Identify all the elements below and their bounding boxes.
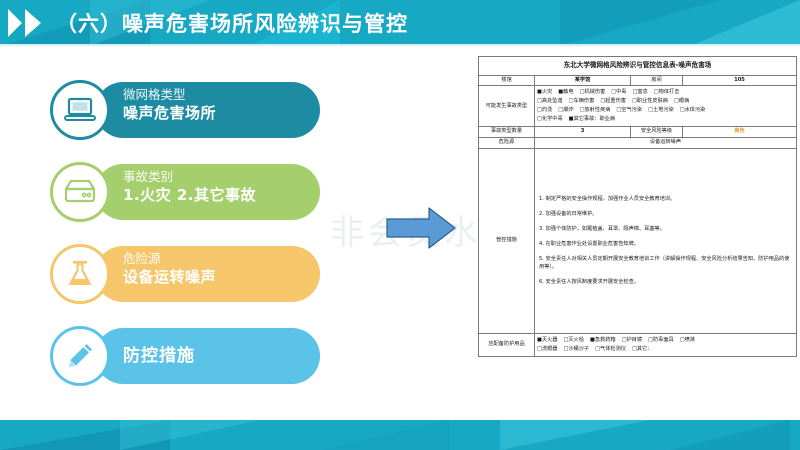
pencil-icon bbox=[65, 341, 95, 371]
card-label: 事故类别 bbox=[123, 168, 312, 185]
checkbox-item[interactable]: □物体打击 bbox=[654, 88, 680, 97]
checkbox-item[interactable]: ■急救药箱 bbox=[590, 336, 616, 345]
flow-arrow-icon bbox=[385, 205, 457, 255]
card-text: 防控措施 bbox=[123, 332, 312, 380]
info-card-micro-grid-type[interactable]: 微网格类型 噪声危害场所 bbox=[95, 82, 320, 138]
building-value: 某学馆 bbox=[535, 75, 631, 86]
checkbox-item[interactable]: □化学中毒 bbox=[537, 115, 563, 124]
checkbox-item[interactable]: □机械伤害 bbox=[580, 88, 606, 97]
hazard-source-value: 设备运转噪声 bbox=[535, 137, 797, 148]
count-label: 事故类型数量 bbox=[479, 127, 535, 138]
flask-icon bbox=[65, 259, 95, 289]
checkbox-item[interactable]: □沙桶沙子 bbox=[563, 345, 589, 354]
card-value: 1.火灾 2.其它事故 bbox=[123, 185, 312, 206]
checkbox-item[interactable]: □车辆伤害 bbox=[569, 97, 595, 106]
card-body: 危险源 设备运转噪声 bbox=[95, 246, 320, 302]
checkbox-item[interactable]: □眼病 bbox=[674, 97, 689, 106]
info-card-accident-category[interactable]: 事故类别 1.火灾 2.其它事故 bbox=[95, 164, 320, 220]
card-icon-circle bbox=[50, 162, 110, 222]
info-card-hazard-source[interactable]: 危险源 设备运转噪声 bbox=[95, 246, 320, 302]
checkbox-item[interactable]: ■灭火器 bbox=[537, 336, 557, 345]
checkbox-item[interactable]: □职业性皮肤病 bbox=[632, 97, 668, 106]
card-label: 微网格类型 bbox=[123, 86, 312, 103]
card-icon-circle bbox=[50, 244, 110, 304]
card-label: 危险源 bbox=[123, 250, 312, 267]
checkbox-item[interactable]: □气体检测仪 bbox=[595, 345, 626, 354]
checkbox-item[interactable]: □中毒 bbox=[611, 88, 626, 97]
card-body: 微网格类型 噪声危害场所 bbox=[95, 82, 320, 138]
card-value: 设备运转噪声 bbox=[123, 267, 312, 288]
table-row: 管控措施 1. 制定严格的安全操作规程，加强作业人员安全教育培训。 2. 加强设… bbox=[479, 148, 797, 333]
equipment-label: 应配备防护用品 bbox=[479, 333, 535, 356]
card-body: 防控措施 bbox=[95, 328, 320, 384]
banner-underline bbox=[0, 44, 800, 46]
checkbox-item[interactable]: □防毒面具 bbox=[648, 336, 674, 345]
card-body: 事故类别 1.火灾 2.其它事故 bbox=[95, 164, 320, 220]
hazard-source-label: 危险源 bbox=[479, 137, 535, 148]
checkbox-item[interactable]: ■火灾 bbox=[537, 88, 552, 97]
checkbox-item[interactable]: □灼烫 bbox=[537, 106, 552, 115]
card-label: 防控措施 bbox=[123, 332, 312, 380]
laptop-icon bbox=[64, 97, 96, 123]
checkbox-item[interactable]: □洗眼器 bbox=[537, 345, 557, 354]
risk-info-table: 东北大学微网格风险辨识与管控信息表-噪声危害场 楼馆 某学馆 房间 105 可能… bbox=[478, 56, 796, 414]
measure-item: 3. 加强个体防护，如戴植盖、耳罩、隔声棉、耳塞等。 bbox=[539, 225, 792, 233]
checkbox-group-1[interactable]: ■火灾■触电□机械伤害□中毒□窒息□物体打击 bbox=[537, 88, 794, 97]
footer-shape-4 bbox=[500, 420, 650, 450]
room-value: 105 bbox=[683, 75, 797, 86]
page-title: （六）噪声危害场所风险辨识与管控 bbox=[56, 6, 408, 42]
measures-label: 管控措施 bbox=[479, 148, 535, 333]
measure-item: 4. 在职业危害作业处设置职业危害告知牌。 bbox=[539, 240, 792, 248]
hazard-types-label: 可能发生事故类型 bbox=[479, 86, 535, 127]
checkbox-item[interactable]: ■触电 bbox=[558, 88, 573, 97]
checkbox-item[interactable]: □窒息 bbox=[633, 88, 648, 97]
measure-item: 2. 加强设备的日常维护。 bbox=[539, 210, 792, 218]
card-text: 危险源 设备运转噪声 bbox=[123, 250, 312, 288]
checkbox-item[interactable]: □护目镜 bbox=[622, 336, 642, 345]
checkbox-item[interactable]: □空气污染 bbox=[616, 106, 642, 115]
checkbox-item[interactable]: □起重伤害 bbox=[600, 97, 626, 106]
checkbox-item[interactable]: □水体污染 bbox=[680, 106, 706, 115]
checkbox-item[interactable]: ■其它事故：职业病 bbox=[569, 115, 615, 124]
card-text: 事故类别 1.火灾 2.其它事故 bbox=[123, 168, 312, 206]
logo-right-triangle bbox=[25, 9, 41, 37]
info-card-control-measures[interactable]: 防控措施 bbox=[95, 328, 320, 384]
footer-banner bbox=[0, 420, 800, 450]
equipment-checklist[interactable]: ■灭火器□灭火毯■急救药箱□护目镜□防毒面具□喷淋□洗眼器□沙桶沙子□气体检测仪… bbox=[535, 333, 797, 356]
checkbox-item[interactable]: □高处坠落 bbox=[537, 97, 563, 106]
checkbox-item[interactable]: □放射性疾病 bbox=[580, 106, 611, 115]
footer-shape-3 bbox=[320, 420, 450, 450]
card-icon-circle bbox=[50, 80, 110, 140]
card-value: 噪声危害场所 bbox=[123, 103, 312, 124]
table-row: 危险源 设备运转噪声 bbox=[479, 137, 797, 148]
banner-shape-5 bbox=[690, 0, 800, 46]
risk-level-label: 安全风险等级 bbox=[631, 127, 683, 138]
checkbox-group-2[interactable]: □高处坠落□车辆伤害□起重伤害□职业性皮肤病□眼病 bbox=[537, 97, 794, 106]
card-text: 微网格类型 噪声危害场所 bbox=[123, 86, 312, 124]
building-label: 楼馆 bbox=[479, 75, 535, 86]
measure-item: 5. 安全责任人对相关人员定期开展安全教育培训工作（讲解操作规程、安全风险分析结… bbox=[539, 255, 792, 271]
table-row: 事故类型数量 3 安全风险等级 黄色 bbox=[479, 127, 797, 138]
table-row: 应配备防护用品 ■灭火器□灭火毯■急救药箱□护目镜□防毒面具□喷淋□洗眼器□沙桶… bbox=[479, 333, 797, 356]
table-row: 楼馆 某学馆 房间 105 bbox=[479, 75, 797, 86]
measure-item: 6. 安全责任人按风制度要求开展安全检查。 bbox=[539, 278, 792, 286]
table-caption-row: 东北大学微网格风险辨识与管控信息表-噪声危害场 bbox=[479, 57, 797, 76]
risk-table: 东北大学微网格风险辨识与管控信息表-噪声危害场 楼馆 某学馆 房间 105 可能… bbox=[478, 56, 797, 357]
checkbox-group-2[interactable]: □洗眼器□沙桶沙子□气体检测仪□其它： bbox=[537, 345, 794, 354]
room-label: 房间 bbox=[631, 75, 683, 86]
hazard-types-checklist[interactable]: ■火灾■触电□机械伤害□中毒□窒息□物体打击□高处坠落□车辆伤害□起重伤害□职业… bbox=[535, 86, 797, 127]
table-caption: 东北大学微网格风险辨识与管控信息表-噪声危害场 bbox=[479, 57, 797, 76]
checkbox-item[interactable]: □爆炸 bbox=[558, 106, 573, 115]
arrow-right-shape bbox=[385, 205, 457, 251]
checkbox-item[interactable]: □灭火毯 bbox=[563, 336, 583, 345]
checkbox-item[interactable]: □土地污染 bbox=[648, 106, 674, 115]
count-value: 3 bbox=[535, 127, 631, 138]
card-icon-circle bbox=[50, 326, 110, 386]
title-banner: （六）噪声危害场所风险辨识与管控 bbox=[0, 0, 800, 46]
footer-shape-5 bbox=[670, 420, 790, 450]
slide-root: （六）噪声危害场所风险辨识与管控 微网格类型 噪声危害场所 事故类别 1.火灾 … bbox=[0, 0, 800, 450]
play-logo-icon bbox=[8, 9, 48, 37]
checkbox-group-3[interactable]: □灼烫□爆炸□放射性疾病□空气污染□土地污染□水体污染 bbox=[537, 106, 794, 115]
logo-left-triangle bbox=[8, 9, 22, 37]
footer-shape-2 bbox=[120, 420, 260, 450]
table-row: 可能发生事故类型 ■火灾■触电□机械伤害□中毒□窒息□物体打击□高处坠落□车辆伤… bbox=[479, 86, 797, 127]
checkbox-item[interactable]: □喷淋 bbox=[680, 336, 695, 345]
checkbox-group-4[interactable]: □化学中毒■其它事故：职业病 bbox=[537, 115, 794, 124]
measure-item: 1. 制定严格的安全操作规程，加强作业人员安全教育培训。 bbox=[539, 195, 792, 203]
checkbox-group-1[interactable]: ■灭火器□灭火毯■急救药箱□护目镜□防毒面具□喷淋 bbox=[537, 336, 794, 345]
checkbox-item[interactable]: □其它： bbox=[632, 345, 652, 354]
risk-level-badge: 黄色 bbox=[683, 127, 797, 138]
measures-content: 1. 制定严格的安全操作规程，加强作业人员安全教育培训。 2. 加强设备的日常维… bbox=[535, 148, 797, 333]
server-icon bbox=[63, 179, 97, 205]
